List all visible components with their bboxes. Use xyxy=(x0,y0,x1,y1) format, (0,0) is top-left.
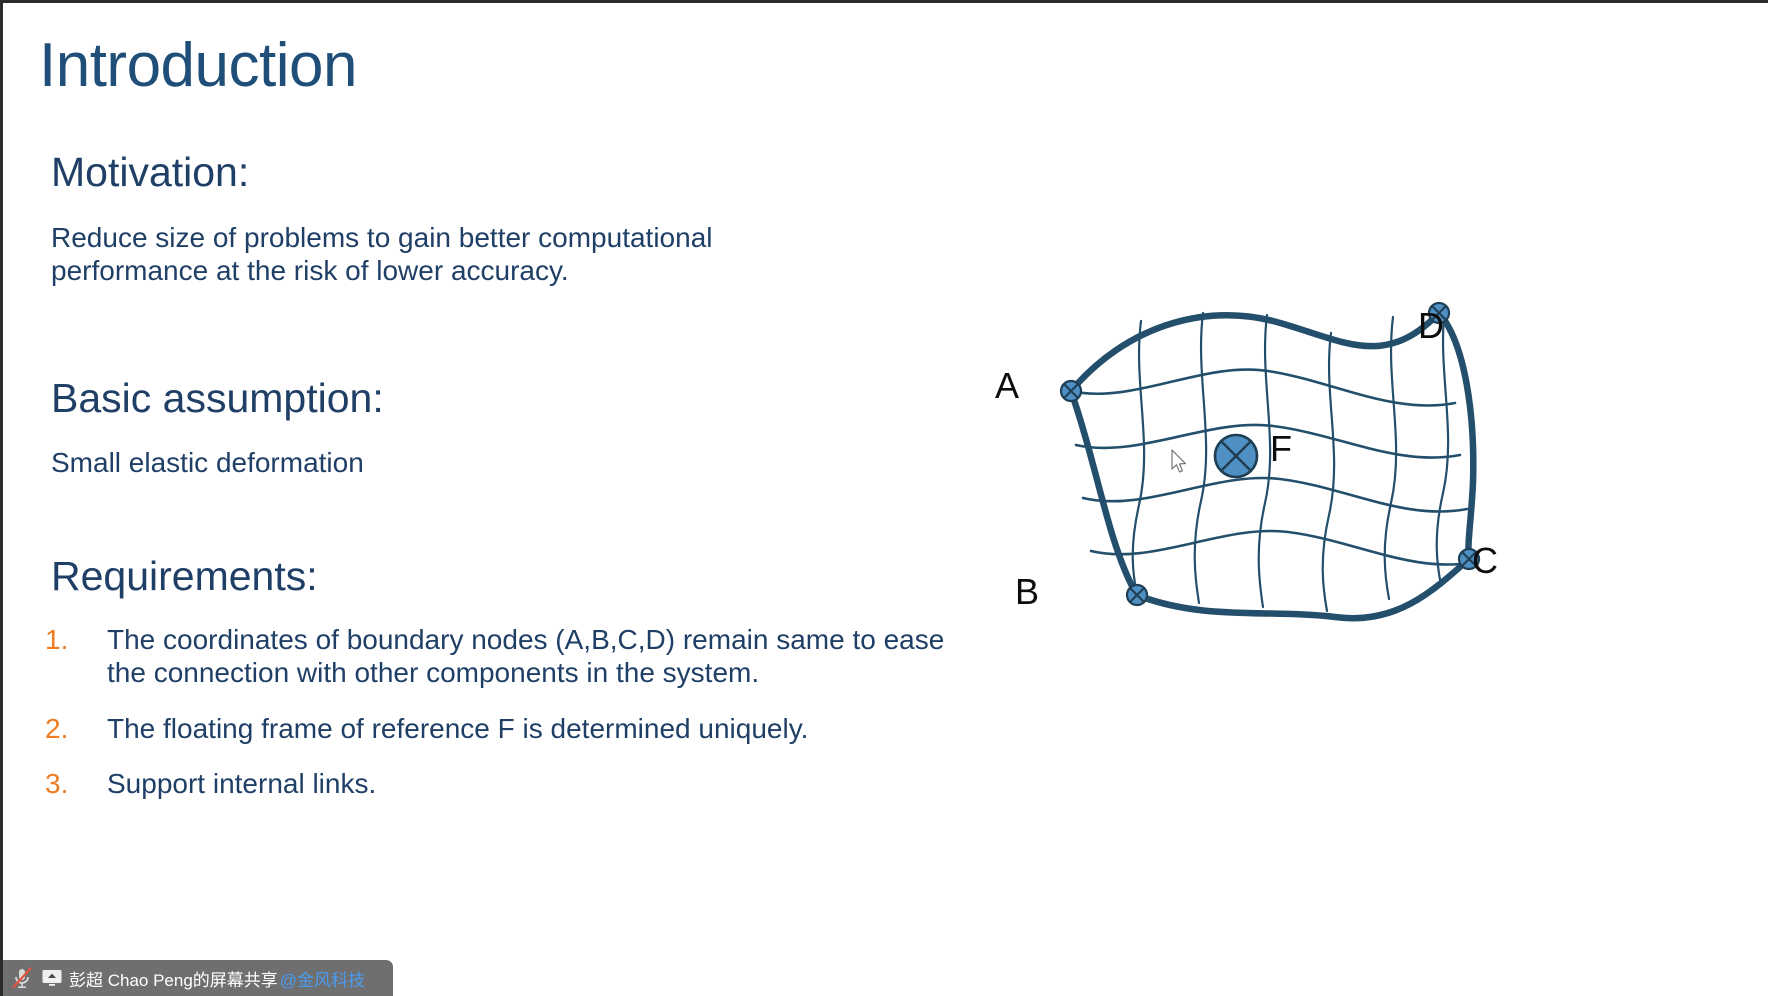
screen-share-handle: @金风科技 xyxy=(280,966,365,991)
section-body-basic-assumption: Small elastic deformation xyxy=(51,446,811,479)
mesh-node-label-c: C xyxy=(1472,543,1498,579)
list-item-text: Support internal links. xyxy=(107,767,945,800)
microphone-muted-icon[interactable] xyxy=(9,965,35,991)
presentation-slide: Introduction Motivation: Reduce size of … xyxy=(0,0,1768,996)
list-item-text: The floating frame of reference F is det… xyxy=(107,712,945,745)
mesh-node-label-d: D xyxy=(1418,308,1444,344)
list-item: 2. The floating frame of reference F is … xyxy=(45,712,945,745)
section-heading-basic-assumption: Basic assumption: xyxy=(51,377,384,420)
list-item: 3. Support internal links. xyxy=(45,767,945,800)
screen-share-label: 彭超 Chao Peng的屏幕共享 xyxy=(69,966,278,991)
list-item: 1. The coordinates of boundary nodes (A,… xyxy=(45,623,945,690)
section-body-motivation: Reduce size of problems to gain better c… xyxy=(51,221,811,288)
section-heading-motivation: Motivation: xyxy=(51,151,249,194)
mesh-node-label-a: A xyxy=(995,368,1019,404)
list-item-text: The coordinates of boundary nodes (A,B,C… xyxy=(107,623,945,690)
list-item-number: 1. xyxy=(45,623,107,656)
list-item-number: 2. xyxy=(45,712,107,745)
deformed-mesh-diagram: A B C D F xyxy=(1063,293,1563,623)
list-item-number: 3. xyxy=(45,767,107,800)
screen-share-icon[interactable] xyxy=(39,965,65,991)
requirements-list: 1. The coordinates of boundary nodes (A,… xyxy=(45,623,945,822)
screen-share-taskbar[interactable]: 彭超 Chao Peng的屏幕共享 @金风科技 xyxy=(3,960,393,996)
mouse-cursor-icon xyxy=(1171,449,1189,475)
section-heading-requirements: Requirements: xyxy=(51,555,318,598)
page-title: Introduction xyxy=(39,33,357,98)
mesh-node-label-b: B xyxy=(1015,574,1039,610)
mesh-node-label-f: F xyxy=(1270,431,1292,467)
